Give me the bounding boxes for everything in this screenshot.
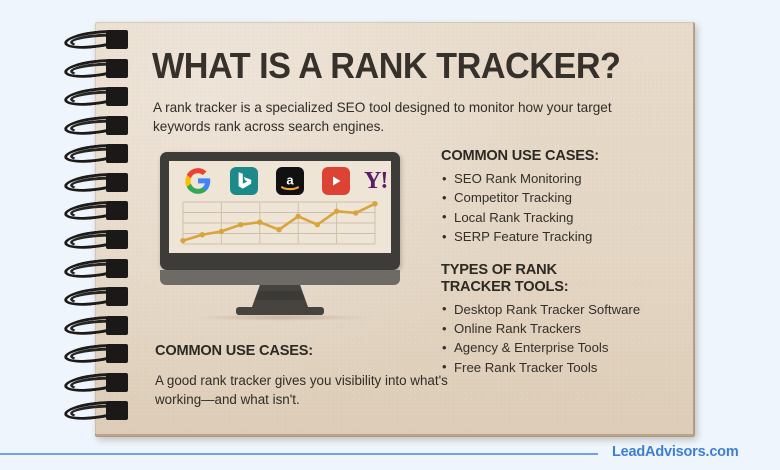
spiral-coil — [58, 116, 140, 136]
bottom-use-cases-body: A good rank tracker gives you visibility… — [155, 371, 465, 409]
use-cases-heading: COMMON USE CASES: — [441, 148, 681, 165]
rank-trend-chart — [179, 199, 379, 247]
tool-type-item: Online Rank Trackers — [441, 319, 681, 338]
use-case-item: SEO Rank Monitoring — [441, 169, 681, 188]
spiral-coil — [58, 230, 140, 250]
infographic-canvas: WHAT IS A RANK TRACKER? A rank tracker i… — [0, 0, 780, 470]
monitor-illustration: a Y! — [160, 152, 400, 327]
use-case-item: SERP Feature Tracking — [441, 227, 681, 246]
monitor-stand-neck-shade — [255, 291, 305, 300]
spiral-coil — [58, 373, 140, 393]
tool-type-item: Desktop Rank Tracker Software — [441, 300, 681, 319]
tool-type-item: Free Rank Tracker Tools — [441, 358, 681, 377]
google-logo — [184, 167, 212, 195]
chart-line — [183, 204, 375, 241]
yahoo-logo-text: Y! — [364, 167, 391, 195]
use-cases-list: SEO Rank MonitoringCompetitor TrackingLo… — [441, 169, 681, 247]
svg-text:a: a — [286, 173, 294, 188]
youtube-logo — [322, 167, 350, 195]
spiral-coil — [58, 201, 140, 221]
tool-type-item: Agency & Enterprise Tools — [441, 338, 681, 357]
spiral-coil — [58, 144, 140, 164]
bing-logo — [230, 167, 258, 195]
spiral-coil — [58, 316, 140, 336]
right-column: COMMON USE CASES: SEO Rank MonitoringCom… — [441, 148, 681, 377]
page-subtitle: A rank tracker is a specialized SEO tool… — [153, 99, 633, 136]
chart-data-points — [180, 201, 377, 243]
use-case-item: Competitor Tracking — [441, 188, 681, 207]
spiral-coil — [58, 259, 140, 279]
spiral-coil — [58, 59, 140, 79]
bottom-use-cases-heading: COMMON USE CASES: — [155, 343, 313, 359]
brand-label: LeadAdvisors.com — [612, 444, 739, 460]
page-title: WHAT IS A RANK TRACKER? — [152, 46, 646, 86]
yahoo-logo: Y! — [364, 167, 391, 195]
amazon-logo: a — [276, 167, 304, 195]
search-engine-logos: a Y! — [181, 167, 379, 195]
use-case-item: Local Rank Tracking — [441, 208, 681, 227]
spiral-binding — [58, 30, 140, 430]
monitor-shadow — [194, 314, 369, 321]
chart-grid — [183, 202, 375, 244]
spiral-coil — [58, 87, 140, 107]
spiral-coil — [58, 173, 140, 193]
monitor-chin — [160, 270, 400, 285]
monitor-frame: a Y! — [160, 152, 400, 270]
spiral-coil — [58, 287, 140, 307]
types-list: Desktop Rank Tracker SoftwareOnline Rank… — [441, 300, 681, 378]
spiral-coil — [58, 30, 140, 50]
spiral-coil — [58, 344, 140, 364]
spiral-coil — [58, 401, 140, 421]
types-heading: TYPES OF RANKTRACKER TOOLS: — [441, 262, 681, 296]
monitor-screen: a Y! — [169, 161, 391, 253]
